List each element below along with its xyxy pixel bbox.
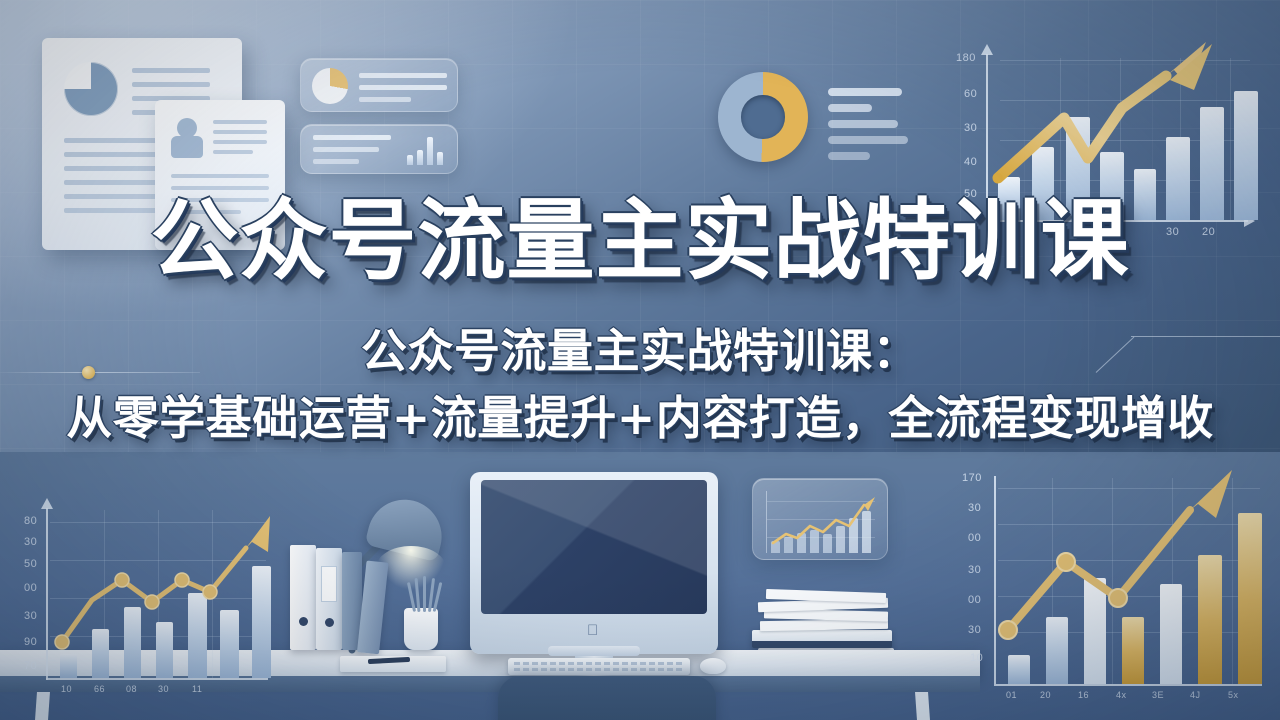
chart-document-pie bbox=[64, 62, 118, 116]
card-text-line bbox=[313, 159, 359, 164]
chart-donut bbox=[718, 72, 808, 162]
binder-label bbox=[321, 566, 337, 602]
card-text-line bbox=[359, 97, 411, 102]
pencil bbox=[423, 576, 426, 612]
keyboard-keys bbox=[514, 668, 684, 671]
title-block: 公众号流量主实战特训课 bbox=[0, 196, 1280, 286]
chart-card-minibars bbox=[407, 137, 447, 165]
card-text-line bbox=[313, 135, 391, 140]
subtitle-line-1: 公众号流量主实战特训课： bbox=[0, 322, 1280, 381]
monitor-stand-foot bbox=[548, 646, 640, 656]
doc-text-line bbox=[213, 140, 267, 144]
binder-hole bbox=[325, 618, 334, 627]
glass-card-pie bbox=[300, 58, 458, 112]
card-text-line bbox=[359, 85, 447, 90]
trend-arrow bbox=[940, 448, 1280, 720]
page-title: 公众号流量主实战特训课 bbox=[0, 196, 1280, 286]
trend-line bbox=[769, 495, 877, 553]
doc-text-line bbox=[213, 130, 267, 134]
mini-bar bbox=[407, 155, 413, 165]
donut-legend-line bbox=[828, 152, 870, 160]
chart-card-pie bbox=[312, 68, 348, 104]
chair bbox=[498, 676, 716, 720]
mini-bar bbox=[437, 152, 443, 165]
donut-legend-line bbox=[828, 120, 898, 128]
subtitle-line-2: 从零学基础运营+流量提升+内容打造，全流程变现增收 bbox=[0, 389, 1280, 448]
person-icon bbox=[177, 118, 197, 138]
apple-logo-icon:  bbox=[587, 623, 598, 638]
book-stack-middle bbox=[752, 630, 892, 648]
pencil-cup bbox=[404, 608, 438, 650]
desk-leg bbox=[915, 692, 930, 720]
chart-bottom-right: 170 30 00 30 00 30 10 01 20 16 4x 3E 4J … bbox=[940, 448, 1280, 720]
doc-text-line bbox=[171, 174, 269, 178]
donut-legend-line bbox=[828, 104, 872, 112]
mini-bar bbox=[427, 137, 433, 165]
trend-line-with-markers bbox=[6, 470, 306, 710]
course-poster: 180 60 30 40 50 30 20 bbox=[0, 0, 1280, 720]
doc-text-line bbox=[132, 82, 210, 87]
glass-card-chart-panel bbox=[752, 478, 888, 560]
doc-text-line bbox=[213, 150, 253, 154]
card-text-line bbox=[359, 73, 447, 78]
subtitle-block: 公众号流量主实战特训课： 从零学基础运营+流量提升+内容打造，全流程变现增收 bbox=[0, 322, 1280, 448]
keyboard bbox=[508, 658, 690, 675]
card-text-line bbox=[313, 147, 379, 152]
mini-bar bbox=[417, 150, 423, 165]
chart-bottom-left: 80 30 50 00 30 90 70 10 66 08 30 11 bbox=[6, 470, 306, 710]
keyboard-keys bbox=[514, 662, 684, 665]
monitor-screen-glare bbox=[481, 480, 707, 614]
doc-text-line bbox=[213, 120, 267, 124]
donut-legend-line bbox=[828, 88, 902, 96]
mouse bbox=[700, 658, 726, 674]
person-icon-body bbox=[171, 136, 203, 158]
doc-text-line bbox=[132, 68, 210, 73]
glass-card-bars bbox=[300, 124, 458, 174]
donut-legend-line bbox=[828, 136, 908, 144]
chart-glass-panel bbox=[769, 495, 877, 553]
binder bbox=[316, 548, 342, 650]
